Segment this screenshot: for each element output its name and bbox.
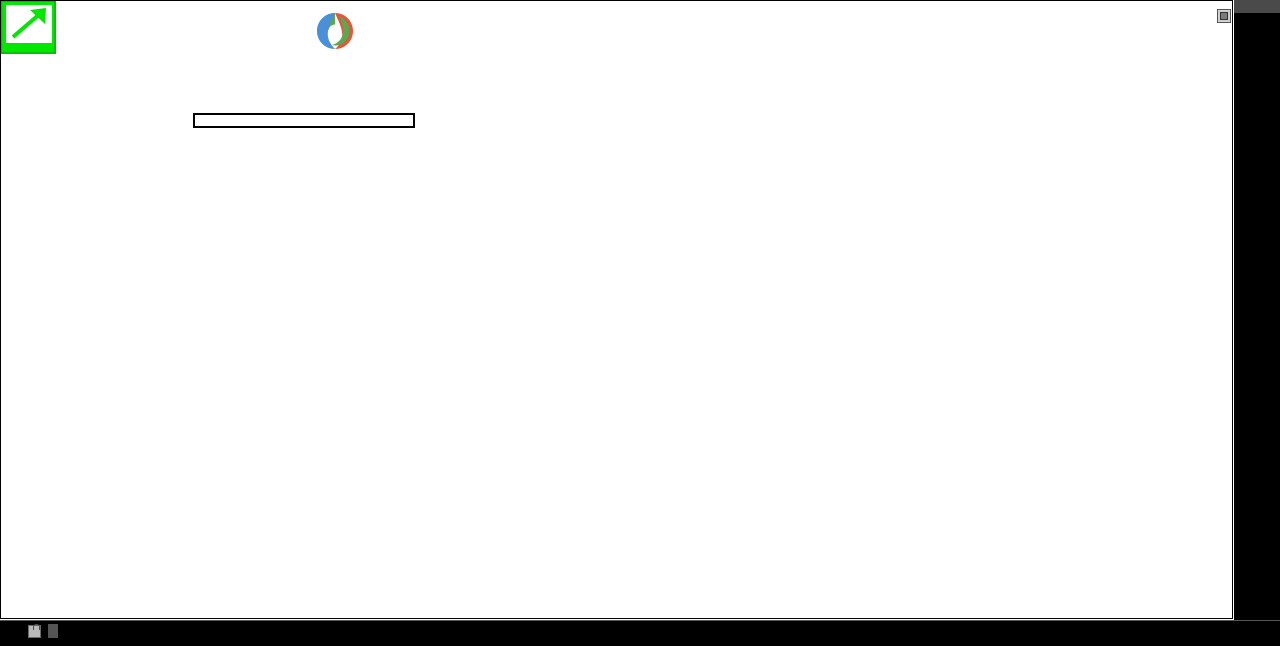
- brand-logo: [314, 10, 365, 52]
- chart-application: [0, 0, 1280, 646]
- current-time-badge: [48, 624, 58, 638]
- chart-settings-icon[interactable]: [1217, 9, 1231, 23]
- price-chart-svg: [0, 0, 1234, 620]
- time-axis[interactable]: [0, 620, 1280, 646]
- chart-plot-area[interactable]: [0, 0, 1234, 620]
- elliott-wave-swirl-icon: [314, 10, 356, 52]
- up-arrow-icon: [6, 5, 52, 43]
- price-axis[interactable]: [1234, 0, 1280, 620]
- trading-rules-legend: [193, 113, 415, 128]
- direction-signal-up: [0, 0, 56, 54]
- current-price-badge: [1234, 0, 1280, 13]
- lock-icon[interactable]: [28, 625, 41, 638]
